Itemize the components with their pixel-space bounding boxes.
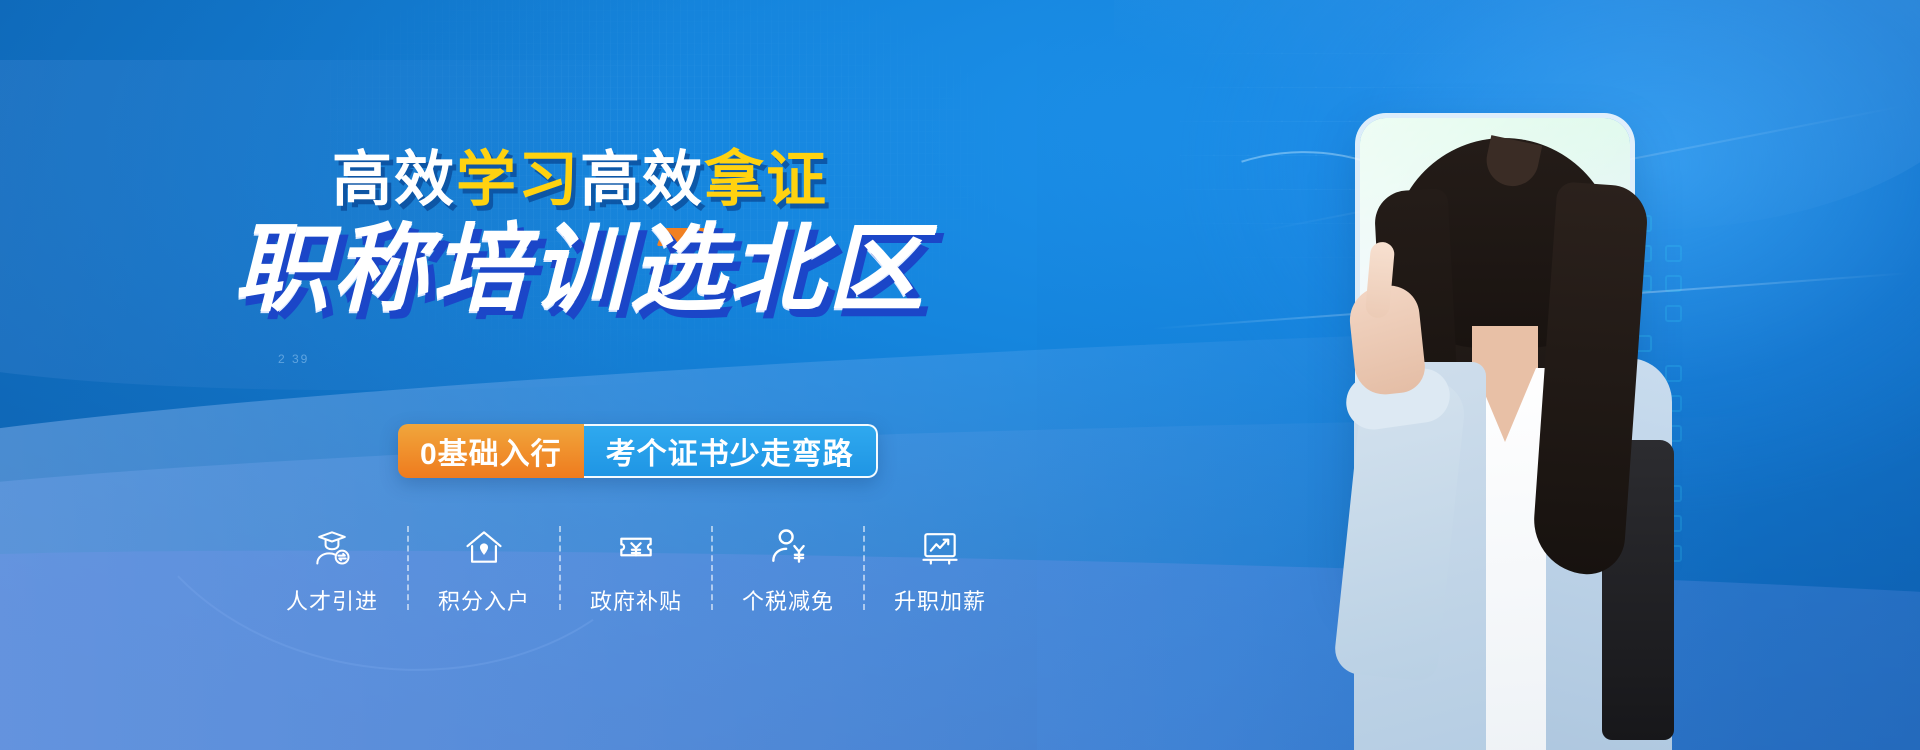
feature-item-4[interactable]: 个税减免 bbox=[721, 524, 855, 616]
feature-divider bbox=[863, 526, 865, 610]
feature-label: 政府补贴 bbox=[590, 584, 682, 616]
feature-divider bbox=[711, 526, 713, 610]
feature-item-5[interactable]: 升职加薪 bbox=[873, 524, 1007, 616]
voucher-yuan-icon bbox=[614, 524, 658, 570]
feature-label: 个税减免 bbox=[742, 584, 834, 616]
feature-item-2[interactable]: 积分入户 bbox=[417, 524, 551, 616]
subhead-part-1: 高效 bbox=[332, 146, 456, 213]
main-headline: 职称培训选北区 bbox=[0, 222, 1160, 318]
tagline-pill: 0基础入行 考个证书少走弯路 bbox=[398, 424, 878, 478]
feature-divider bbox=[559, 526, 561, 610]
banner-content: 高效学习高效拿证 职称培训选北区 0基础入行 考个证书少走弯路 人才引进积分入户… bbox=[0, 0, 1160, 750]
model-photo-zone bbox=[1270, 60, 1790, 750]
chart-growth-icon bbox=[918, 524, 962, 570]
feature-item-3[interactable]: 政府补贴 bbox=[569, 524, 703, 616]
sub-headline: 高效学习高效拿证 bbox=[0, 150, 1160, 210]
graduate-person-icon bbox=[310, 524, 354, 570]
subhead-highlight-2: 拿证 bbox=[704, 146, 828, 213]
promo-banner: 2 39 bbox=[0, 0, 1920, 750]
feature-label: 积分入户 bbox=[438, 584, 530, 616]
feature-list: 人才引进积分入户政府补贴个税减免升职加薪 bbox=[265, 524, 1007, 616]
pill-right-label: 考个证书少走弯路 bbox=[584, 424, 878, 478]
feature-label: 升职加薪 bbox=[894, 584, 986, 616]
feature-divider bbox=[407, 526, 409, 610]
house-pin-icon bbox=[462, 524, 506, 570]
pill-left-label: 0基础入行 bbox=[398, 424, 584, 478]
feature-label: 人才引进 bbox=[286, 584, 378, 616]
subhead-part-2: 高效 bbox=[580, 146, 704, 213]
model-photo bbox=[1296, 110, 1716, 750]
subhead-highlight-1: 学习 bbox=[456, 146, 580, 213]
person-yuan-icon bbox=[766, 524, 810, 570]
feature-item-1[interactable]: 人才引进 bbox=[265, 524, 399, 616]
